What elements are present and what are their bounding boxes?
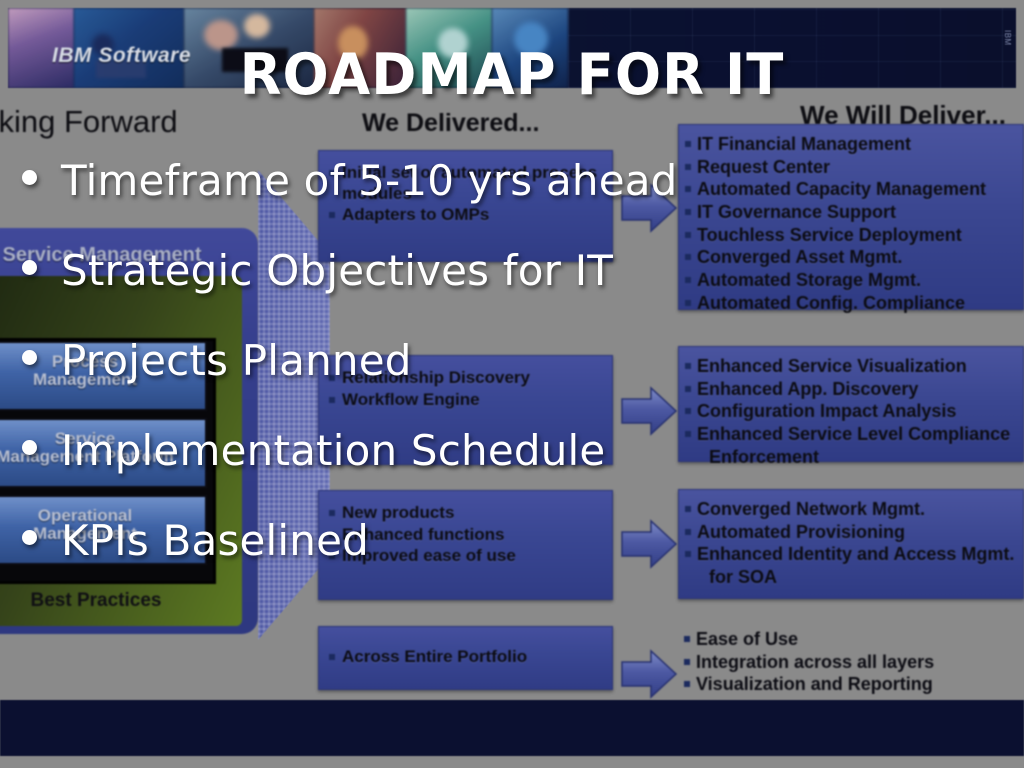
slide-bottom-strip (0, 700, 1024, 756)
list-item: Implementation Schedule (22, 426, 982, 516)
list-item: Projects Planned (22, 336, 982, 426)
list-item-label: Across Entire Portfolio (342, 647, 527, 668)
list-item: Ease of Use (684, 628, 1016, 651)
round-bullet-icon (22, 350, 37, 365)
heading-looking-forward: ooking Forward (0, 104, 178, 140)
bullet-label: Strategic Objectives for IT (61, 246, 613, 295)
collage-blob (244, 14, 270, 38)
round-bullet-icon (22, 440, 37, 455)
round-bullet-icon (22, 530, 37, 545)
square-bullet-icon (329, 654, 335, 660)
list-item: Across Entire Portfolio (329, 647, 598, 668)
will-deliver-box-4: Ease of Use Integration across all layer… (678, 620, 1024, 698)
list-item: Strategic Objectives for IT (22, 246, 982, 336)
bullet-label: Projects Planned (61, 336, 412, 385)
arrow-right-icon (620, 648, 678, 700)
list-item: KPIs Baselined (22, 516, 982, 606)
list-item: IT Financial Management (685, 133, 1015, 156)
bullet-label: KPIs Baselined (61, 516, 369, 565)
square-bullet-icon (685, 141, 691, 147)
square-bullet-icon (684, 636, 690, 642)
page-title: ROADMAP FOR IT (0, 42, 1024, 108)
square-bullet-icon (684, 659, 690, 665)
list-item: Integration across all layers (684, 651, 1016, 674)
square-bullet-icon (684, 681, 690, 687)
delivered-box-4: Across Entire Portfolio (318, 626, 613, 690)
bullet-label: Timeframe of 5-10 yrs ahead (61, 156, 678, 205)
presentation-slide: IBM Software IBM ooking Forward We Deliv… (0, 0, 1024, 768)
list-item-label: Visualization and Reporting (696, 673, 933, 696)
list-item: Timeframe of 5-10 yrs ahead (22, 156, 982, 246)
bullet-list: Timeframe of 5-10 yrs ahead Strategic Ob… (22, 156, 982, 606)
list-item-label: Integration across all layers (696, 651, 934, 674)
heading-we-delivered: We Delivered... (362, 109, 539, 138)
list-item-label: Ease of Use (696, 628, 798, 651)
list-item: Visualization and Reporting (684, 673, 1016, 696)
round-bullet-icon (22, 260, 37, 275)
round-bullet-icon (22, 170, 37, 185)
list-item-label: IT Financial Management (697, 133, 911, 156)
bullet-label: Implementation Schedule (61, 426, 605, 475)
